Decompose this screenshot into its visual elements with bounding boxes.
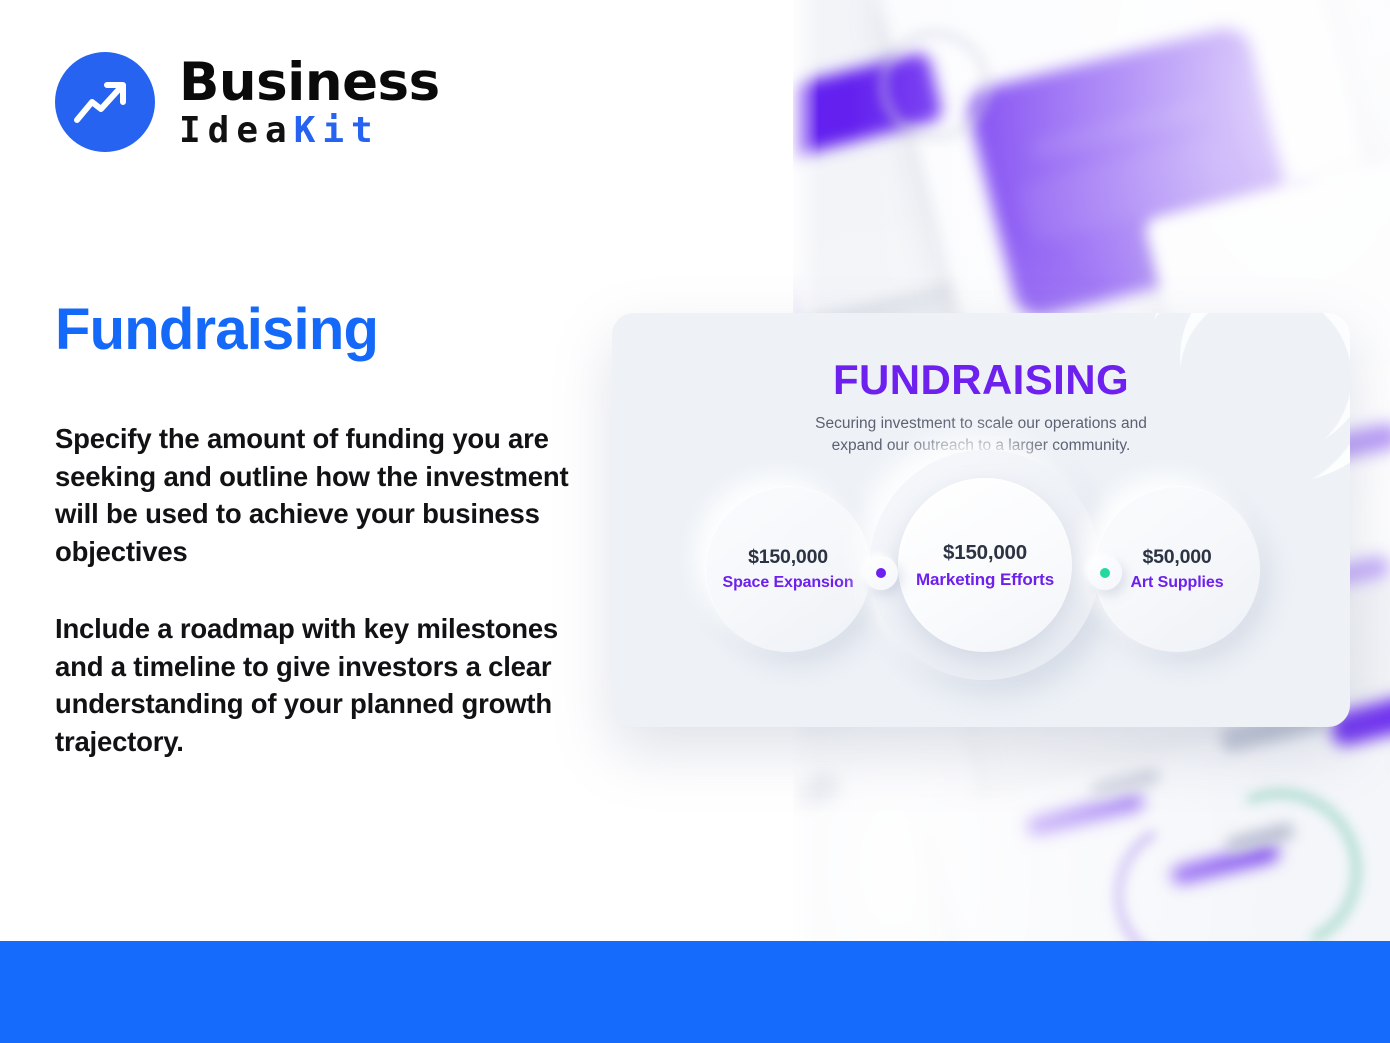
brand-word-idea: Idea	[179, 110, 294, 151]
allocation-amount: $150,000	[748, 546, 828, 569]
brand-wordmark: Business IdeaKit	[179, 56, 440, 149]
allocation-amount: $150,000	[943, 541, 1027, 565]
left-connector-dot	[876, 568, 886, 578]
allocation-label: Marketing Efforts	[916, 570, 1054, 590]
right-connector-knob	[1088, 556, 1122, 590]
brand-word-business: Business	[179, 56, 440, 109]
brand-logo[interactable]: Business IdeaKit	[55, 52, 440, 152]
fundraising-card: FUNDRAISING Securing investment to scale…	[612, 313, 1350, 727]
card-title: FUNDRAISING	[612, 356, 1350, 404]
card-subtitle-line-1: Securing investment to scale our operati…	[612, 413, 1350, 435]
slide-canvas: Business IdeaKit Fundraising Specify the…	[0, 0, 1390, 1043]
body-paragraph-2: Include a roadmap with key milestones an…	[55, 610, 575, 761]
allocation-label: Space Expansion	[723, 574, 854, 592]
allocation-label: Art Supplies	[1130, 574, 1223, 592]
growth-arrow-icon	[55, 52, 155, 152]
allocation-circle-cluster: $150,000 Space Expansion	[612, 463, 1350, 703]
body-paragraph-1: Specify the amount of funding you are se…	[55, 420, 575, 571]
allocation-circle-marketing-efforts[interactable]: $150,000 Marketing Efforts	[870, 450, 1100, 680]
brand-word-line2: IdeaKit	[179, 113, 440, 149]
allocation-circle-space-expansion[interactable]: $150,000 Space Expansion	[705, 486, 871, 652]
page-title: Fundraising	[55, 296, 378, 363]
center-circle-inner: $150,000 Marketing Efforts	[898, 478, 1072, 652]
allocation-amount: $50,000	[1142, 546, 1211, 569]
brand-word-kit: Kit	[294, 110, 380, 151]
left-connector-knob	[864, 556, 898, 590]
right-connector-dot	[1100, 568, 1110, 578]
footer-bar	[0, 941, 1390, 1043]
